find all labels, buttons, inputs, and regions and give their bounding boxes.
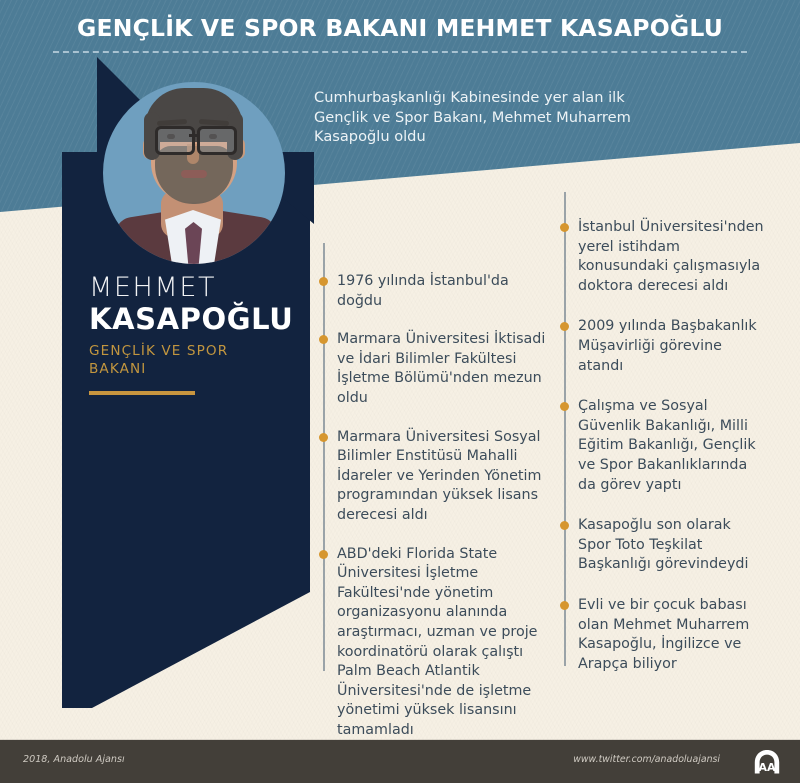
timeline-bullet-dot — [319, 277, 328, 286]
header-lede: Cumhurbaşkanlığı Kabinesinde yer alan il… — [314, 88, 644, 147]
profile-last-name: KASAPOĞLU — [89, 302, 309, 336]
timeline-bullet-dot — [560, 521, 569, 530]
timeline-item-text: Marmara Üniversitesi İktisadi ve İdari B… — [337, 330, 549, 408]
footer-copyright: 2018, Anadolu Ajansı — [23, 754, 125, 765]
anadolu-agency-logo-icon: AA — [752, 747, 782, 777]
timeline-bullet-dot — [560, 402, 569, 411]
timeline-line-column-2 — [564, 192, 566, 666]
timeline-item-text: İstanbul Üniversitesi'nden yerel istihda… — [578, 218, 768, 296]
timeline-item-text: 2009 yılında Başbakanlık Müşavirliği gör… — [578, 317, 768, 376]
profile-first-name: MEHMET — [89, 272, 309, 303]
timeline-item-text: Kasapoğlu son olarak Spor Toto Teşkilat … — [578, 516, 768, 575]
avatar — [103, 82, 285, 264]
timeline-bullet-dot — [319, 335, 328, 344]
footer-bar: 2018, Anadolu Ajansı www.twitter.com/ana… — [0, 740, 800, 783]
timeline-bullet-dot — [560, 322, 569, 331]
timeline-item-text: ABD'deki Florida State Üniversitesi İşle… — [337, 545, 549, 741]
footer-twitter-link[interactable]: www.twitter.com/anadoluajansi — [573, 754, 720, 765]
infographic-page: GENÇLİK VE SPOR BAKANI MEHMET KASAPOĞLU … — [0, 0, 800, 783]
timeline-bullet-dot — [560, 601, 569, 610]
timeline-item-text: Marmara Üniversitesi Sosyal Bilimler Ens… — [337, 428, 549, 526]
timeline-item-text: 1976 yılında İstanbul'da doğdu — [337, 272, 549, 311]
timeline-bullet-dot — [319, 550, 328, 559]
title-divider — [53, 51, 747, 53]
timeline-bullet-dot — [560, 223, 569, 232]
timeline-item-text: Çalışma ve Sosyal Güvenlik Bakanlığı, Mi… — [578, 397, 768, 495]
timeline-item-text: Evli ve bir çocuk babası olan Mehmet Muh… — [578, 596, 768, 674]
profile-role-line-2: BAKANI — [89, 361, 289, 377]
gold-accent-bar — [89, 391, 195, 395]
profile-role-line-1: GENÇLİK VE SPOR — [89, 343, 289, 359]
page-title: GENÇLİK VE SPOR BAKANI MEHMET KASAPOĞLU — [0, 14, 800, 42]
svg-text:AA: AA — [758, 761, 776, 774]
timeline-bullet-dot — [319, 433, 328, 442]
timeline-line-column-1 — [323, 243, 325, 671]
portrait-photo — [103, 82, 285, 264]
